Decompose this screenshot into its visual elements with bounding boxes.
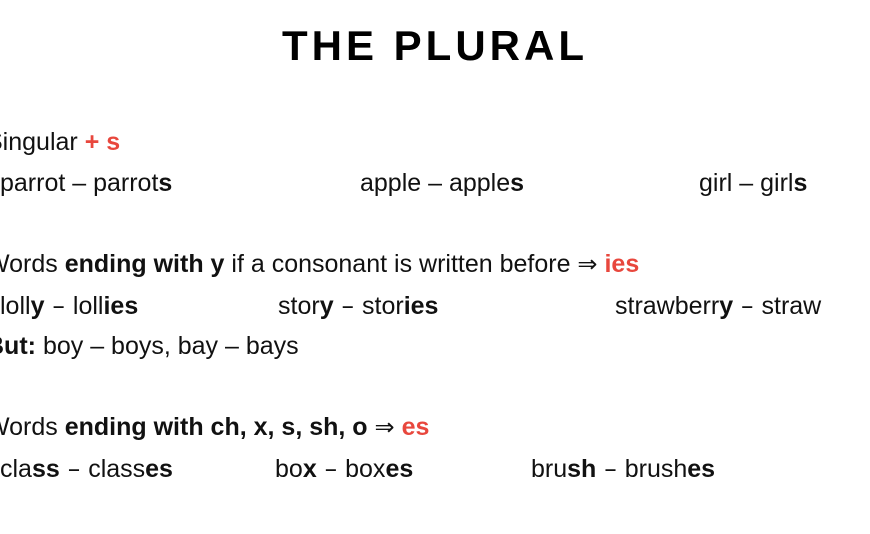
example-row-plural-s: parrot – parrots apple – apples girl – g… <box>0 163 870 204</box>
block-spacer <box>0 367 870 407</box>
example-stem: bo <box>275 455 303 483</box>
example-stem: cla <box>0 455 32 483</box>
rule-heading-plural-s: Singular + s <box>0 122 870 163</box>
example-row-plural-es: class – classes box – boxes brush – brus… <box>0 448 870 489</box>
slide-canvas: THE PLURAL Singular + s parrot – parrots… <box>0 0 870 534</box>
example-stem: girl – girl <box>699 169 793 197</box>
example-item: girl – girls <box>699 163 807 204</box>
example-ending: s <box>793 169 807 197</box>
example-highlight: x <box>303 455 317 483</box>
example-ending: es <box>385 455 413 483</box>
example-dash: – <box>60 454 88 483</box>
example-item: class – classes <box>0 448 173 490</box>
example-stem: parrot – parrot <box>0 169 158 197</box>
example-highlight: ss <box>32 455 60 483</box>
example-plural-stem: box <box>345 455 385 483</box>
example-highlight: y <box>31 292 45 320</box>
rule-heading-lead: Words <box>0 413 65 441</box>
example-ending: s <box>510 169 524 197</box>
example-highlight: sh <box>567 455 596 483</box>
example-stem: bru <box>531 455 567 483</box>
rule-heading-plural-es: Words ending with ch, x, s, sh, o ⇒ es <box>0 407 870 448</box>
example-item: strawberry – straw <box>615 285 821 327</box>
rule-heading-mid: if a consonant is written before <box>224 250 577 278</box>
rule-heading-text: Singular <box>0 128 78 156</box>
example-item: apple – apples <box>360 163 524 204</box>
rule-heading-plural-ies: Words ending with y if a consonant is wr… <box>0 244 870 285</box>
rule-heading-emphasis: ending with ch, x, s, sh, o <box>65 413 368 441</box>
example-highlight: y <box>320 292 334 320</box>
rule-heading-mid <box>368 413 375 441</box>
example-item: lolly – lollies <box>0 285 138 327</box>
rule-accent-suffix: ies <box>604 250 639 278</box>
example-item: box – boxes <box>275 448 413 490</box>
rule-exception-plural-ies: But: boy – boys, bay – bays <box>0 326 870 367</box>
example-dash: – <box>596 454 624 483</box>
example-plural-stem: class <box>88 455 145 483</box>
example-plural-stem: stor <box>362 292 404 320</box>
exception-text: boy – boys, bay – bays <box>43 332 299 360</box>
rule-heading-lead: Words <box>0 250 65 278</box>
example-dash: – <box>733 291 761 320</box>
example-row-plural-ies: lolly – lollies story – stories strawber… <box>0 285 870 326</box>
example-plural-stem: loll <box>73 292 104 320</box>
rule-accent-suffix: + s <box>85 128 120 156</box>
example-dash: – <box>317 454 345 483</box>
rule-accent-suffix: es <box>402 413 430 441</box>
example-stem: strawberr <box>615 292 719 320</box>
double-arrow-icon: ⇒ <box>375 413 395 441</box>
rule-heading-emphasis: ending with y <box>65 250 225 278</box>
example-item: brush – brushes <box>531 448 715 490</box>
example-ending: es <box>687 455 715 483</box>
example-dash: – <box>44 291 72 320</box>
example-stem: stor <box>278 292 320 320</box>
example-ending: s <box>158 169 172 197</box>
example-item: story – stories <box>278 285 438 327</box>
block-spacer <box>0 204 870 244</box>
example-item: parrot – parrots <box>0 163 172 204</box>
example-ending: ies <box>103 292 138 320</box>
example-ending: ies <box>404 292 439 320</box>
example-dash: – <box>334 291 362 320</box>
double-arrow-icon: ⇒ <box>577 250 597 278</box>
example-plural-stem: brush <box>625 455 688 483</box>
exception-label: But: <box>0 332 36 360</box>
example-highlight: y <box>719 292 733 320</box>
example-stem: apple – apple <box>360 169 510 197</box>
page-title: THE PLURAL <box>0 20 870 72</box>
example-stem: loll <box>0 292 31 320</box>
example-plural-stem: straw <box>762 292 822 320</box>
example-ending: es <box>145 455 173 483</box>
slide-body: Singular + s parrot – parrots apple – ap… <box>0 122 870 489</box>
